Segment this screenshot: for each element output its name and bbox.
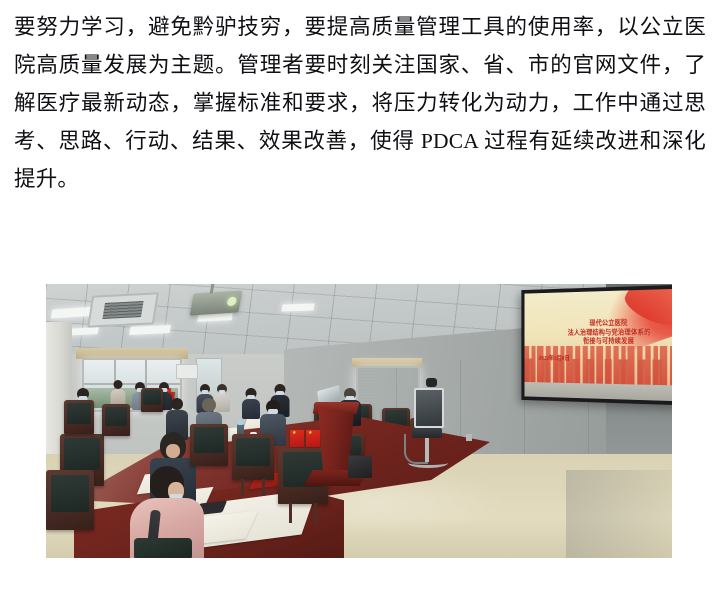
attendee-face bbox=[166, 444, 180, 458]
photo-canvas: 现代公立医院 法人治理结构与党治理体系的 衔接与可持续发展 2022年3月8日 bbox=[46, 284, 672, 558]
projection-screen: 现代公立医院 法人治理结构与党治理体系的 衔接与可持续发展 2022年3月8日 bbox=[521, 284, 672, 406]
chair bbox=[190, 424, 228, 466]
attendee-head bbox=[171, 398, 183, 410]
slide-date: 2022年3月8日 bbox=[539, 353, 570, 361]
body-paragraph: 要努力学习，避免黔驴技穷，要提高质量管理工具的使用率，以公立医院高质量发展为主题… bbox=[14, 8, 706, 198]
chair-leg bbox=[314, 503, 317, 523]
chair bbox=[102, 404, 130, 436]
chinese-flag bbox=[290, 430, 304, 447]
chair-back bbox=[105, 407, 127, 427]
floor-shadow bbox=[566, 470, 672, 558]
slide-skyline-front bbox=[524, 346, 672, 386]
attendee-head bbox=[113, 380, 122, 389]
slide-title: 现代公立医院 法人治理结构与党治理体系的 衔接与可持续发展 bbox=[543, 318, 672, 346]
chair bbox=[46, 470, 94, 530]
chair-back bbox=[67, 403, 91, 424]
chair bbox=[64, 400, 94, 434]
ceiling-projector bbox=[190, 290, 243, 315]
slide-title-line-2: 法人治理结构与党治理体系的 bbox=[543, 328, 672, 338]
slide-bottom-band bbox=[524, 382, 672, 402]
chair-leg bbox=[241, 479, 244, 496]
chair-back bbox=[51, 475, 89, 512]
attendee-head bbox=[202, 398, 216, 412]
chair bbox=[232, 434, 274, 480]
chair-leg bbox=[262, 479, 265, 496]
cart-cable bbox=[404, 434, 428, 464]
chair-back bbox=[194, 427, 224, 453]
attendee bbox=[110, 380, 125, 404]
chinese-flag bbox=[306, 430, 320, 447]
chair-back bbox=[236, 438, 270, 467]
air-conditioner-vent bbox=[87, 292, 159, 327]
attendee bbox=[242, 388, 260, 418]
equipment-bag bbox=[348, 456, 372, 478]
chair-leg bbox=[289, 503, 292, 523]
chair bbox=[141, 388, 163, 412]
ceiling-light bbox=[281, 303, 314, 311]
meeting-room-photo: 现代公立医院 法人治理结构与党治理体系的 衔接与可持续发展 2022年3月8日 bbox=[46, 284, 672, 558]
wall-sign bbox=[176, 364, 198, 379]
chair-back bbox=[143, 390, 161, 405]
projector-lens bbox=[226, 297, 237, 307]
attendee-torso bbox=[242, 399, 260, 419]
chair-back bbox=[64, 438, 99, 470]
document-page: 要努力学习，避免黔驴技穷，要提高质量管理工具的使用率，以公立医院高质量发展为主题… bbox=[0, 0, 719, 599]
video-camera bbox=[426, 378, 437, 387]
attendee-skirt bbox=[134, 538, 192, 558]
projected-slide: 现代公立医院 法人治理结构与党治理体系的 衔接与可持续发展 2022年3月8日 bbox=[524, 288, 672, 402]
monitor-screen bbox=[414, 388, 444, 428]
slide-title-line-3: 衔接与可持续发展 bbox=[543, 337, 672, 346]
wall-outlet-plate bbox=[466, 434, 472, 441]
